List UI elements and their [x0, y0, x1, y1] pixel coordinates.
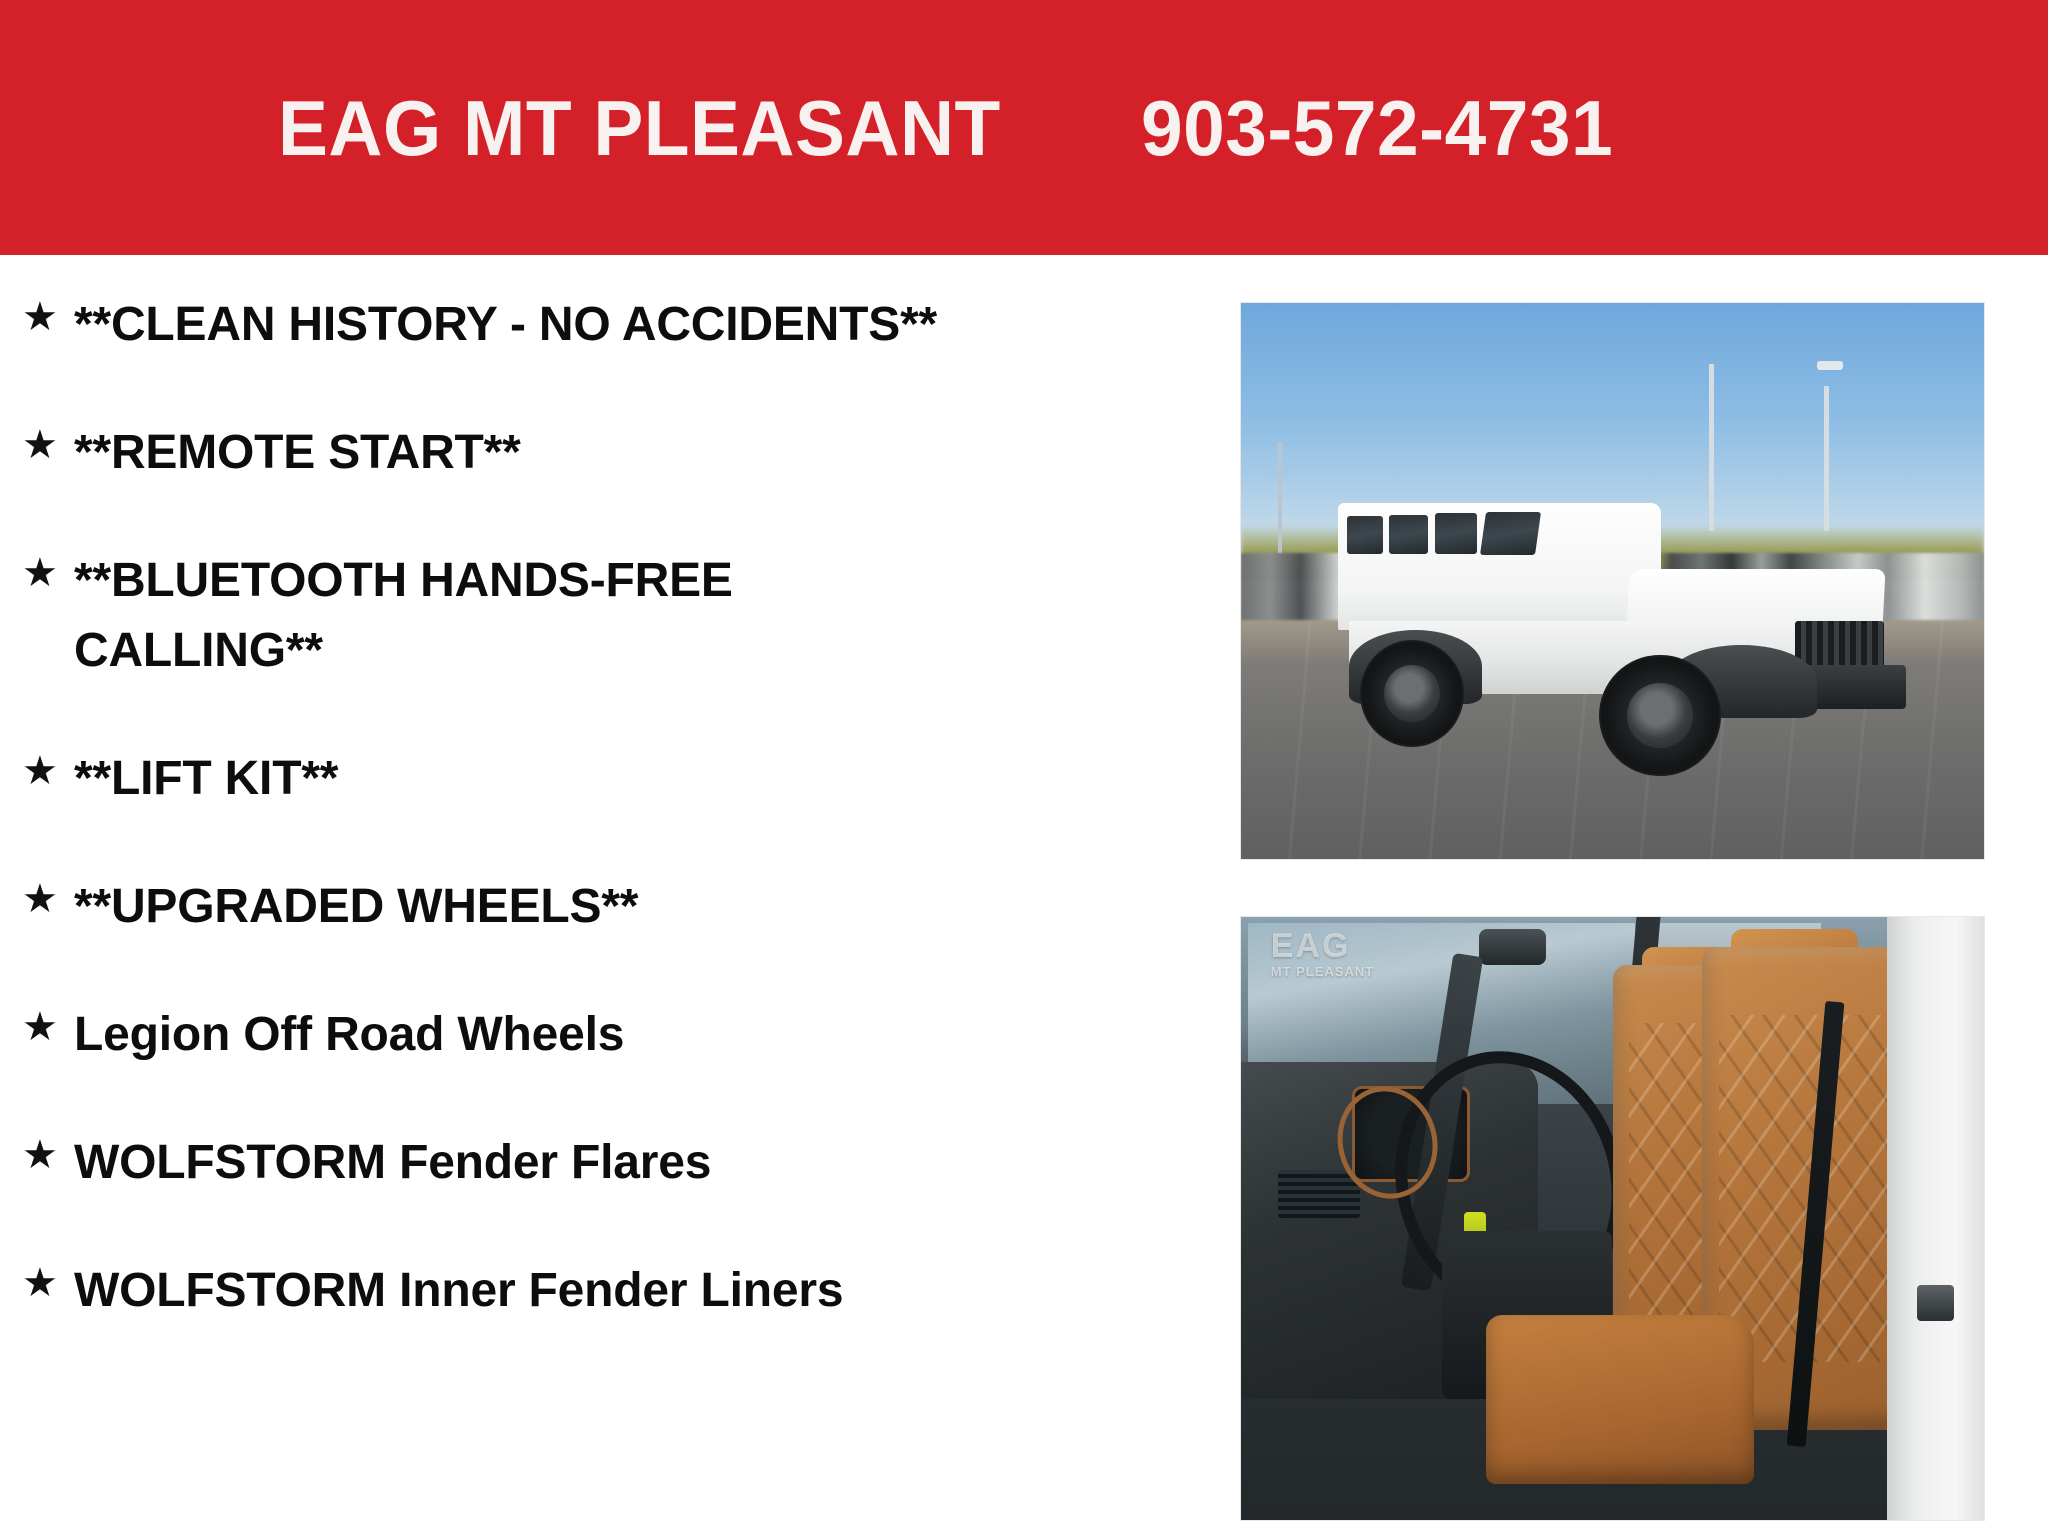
- decal-line-2: MT PLEASANT: [1271, 965, 1374, 979]
- star-icon: ★: [22, 290, 74, 344]
- air-vent-icon: [1278, 1170, 1360, 1218]
- rear-quarter-window: [1347, 516, 1383, 554]
- rear-wheel: [1360, 640, 1464, 747]
- star-icon: ★: [22, 546, 74, 600]
- list-item: ★ **CLEAN HISTORY - NO ACCIDENTS**: [0, 290, 1230, 360]
- feature-label: **CLEAN HISTORY - NO ACCIDENTS**: [74, 290, 1114, 360]
- star-icon: ★: [22, 1000, 74, 1054]
- list-item: ★ **BLUETOOTH HANDS-FREE CALLING**: [0, 546, 1230, 686]
- vehicle-interior-photo[interactable]: EAG MT PLEASANT: [1240, 916, 1985, 1521]
- list-item: ★ **UPGRADED WHEELS**: [0, 872, 1230, 942]
- feature-label: **UPGRADED WHEELS**: [74, 872, 1114, 942]
- dealer-phone-number[interactable]: 903-572-4731: [1141, 89, 1613, 167]
- light-pole-icon: [1278, 442, 1282, 553]
- list-item: ★ WOLFSTORM Inner Fender Liners: [0, 1256, 1230, 1326]
- feature-label: **LIFT KIT**: [74, 744, 1114, 814]
- windshield: [1480, 512, 1541, 555]
- vehicle-photo-column: EAG MT PLEASANT: [1240, 255, 2000, 1521]
- rear-door-window: [1389, 515, 1428, 554]
- list-item: ★ Legion Off Road Wheels: [0, 1000, 1230, 1070]
- wheel-face: [1627, 683, 1693, 749]
- vehicle-exterior-photo[interactable]: [1240, 302, 1985, 860]
- wheel-face: [1384, 665, 1440, 723]
- jeep-wrangler-vehicle: [1338, 503, 1895, 748]
- star-icon: ★: [22, 1128, 74, 1182]
- feature-label: **BLUETOOTH HANDS-FREE CALLING**: [74, 546, 774, 686]
- list-item: ★ **LIFT KIT**: [0, 744, 1230, 814]
- feature-label: Legion Off Road Wheels: [74, 1000, 1114, 1070]
- dealer-name: EAG MT PLEASANT: [278, 89, 1001, 167]
- feature-label: WOLFSTORM Inner Fender Liners: [74, 1256, 1114, 1326]
- feature-label: WOLFSTORM Fender Flares: [74, 1128, 1114, 1198]
- list-item: ★ WOLFSTORM Fender Flares: [0, 1128, 1230, 1198]
- vehicle-feature-slide: EAG MT PLEASANT 903-572-4731 ★ **CLEAN H…: [0, 0, 2048, 1536]
- feature-label: **REMOTE START**: [74, 418, 1114, 488]
- star-icon: ★: [22, 744, 74, 798]
- star-icon: ★: [22, 872, 74, 926]
- star-icon: ★: [22, 1256, 74, 1310]
- decal-line-1: EAG: [1271, 927, 1351, 965]
- dealer-header-bar: EAG MT PLEASANT 903-572-4731: [0, 0, 2048, 255]
- rearview-mirror: [1479, 929, 1546, 965]
- jeep-cabin: [1338, 503, 1661, 630]
- list-item: ★ **REMOTE START**: [0, 418, 1230, 488]
- door-handle: [1917, 1285, 1954, 1321]
- slide-body: ★ **CLEAN HISTORY - NO ACCIDENTS** ★ **R…: [0, 255, 2048, 1536]
- star-icon: ★: [22, 418, 74, 472]
- front-wheel: [1599, 655, 1720, 776]
- light-pole-head: [1817, 361, 1843, 370]
- feature-list: ★ **CLEAN HISTORY - NO ACCIDENTS** ★ **R…: [0, 255, 1230, 1380]
- windshield-dealer-decal: EAG MT PLEASANT: [1271, 929, 1374, 978]
- front-door-window: [1435, 513, 1477, 554]
- door-panel: [1887, 917, 1984, 1520]
- seat-cushion: [1486, 1315, 1753, 1484]
